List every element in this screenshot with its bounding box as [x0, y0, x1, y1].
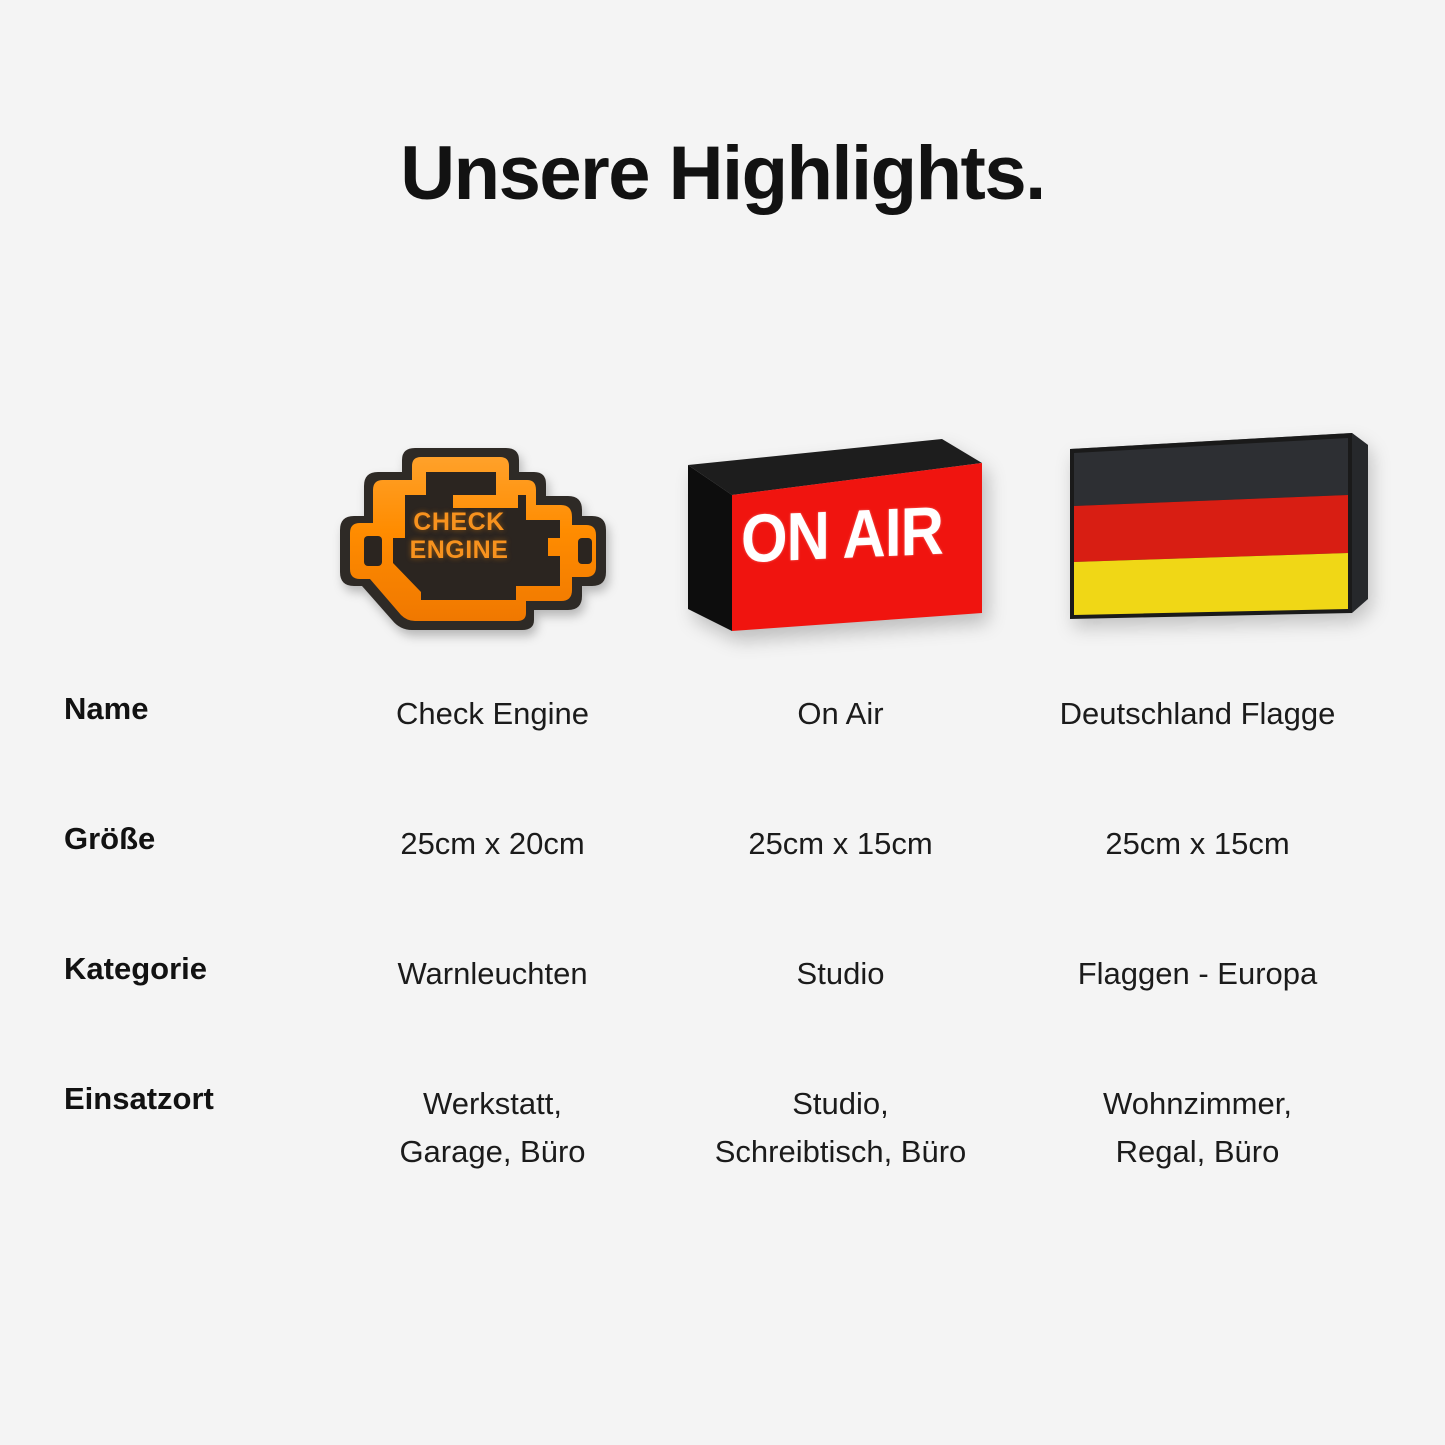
page-title: Unsere Highlights. — [0, 132, 1445, 216]
cell-einsatzort-deutschland-flagge: Wohnzimmer,Regal, Büro — [1025, 1080, 1370, 1176]
table-row: Einsatzort Werkstatt,Garage, Büro Studio… — [0, 1080, 1445, 1230]
row-label-name: Name — [64, 690, 364, 729]
row-label-groesse: Größe — [64, 820, 364, 859]
product-image-on-air[interactable]: ON AIR — [660, 405, 1020, 670]
germany-flag-lightbox — [1062, 423, 1377, 645]
spec-table: Name Check Engine On Air Deutschland Fla… — [0, 690, 1445, 1230]
on-air-lightbox: ON AIR — [680, 423, 990, 648]
cell-groesse-on-air: 25cm x 15cm — [678, 820, 1003, 868]
on-air-sign-text: ON AIR — [731, 496, 953, 574]
row-label-kategorie: Kategorie — [64, 950, 364, 989]
check-engine-sign-text: CHECK ENGINE — [384, 508, 534, 564]
cell-einsatzort-check-engine: Werkstatt,Garage, Büro — [330, 1080, 655, 1176]
cell-kategorie-check-engine: Warnleuchten — [330, 950, 655, 998]
cell-groesse-check-engine: 25cm x 20cm — [330, 820, 655, 868]
table-row: Name Check Engine On Air Deutschland Fla… — [0, 690, 1445, 820]
product-image-check-engine[interactable]: CHECK ENGINE — [290, 405, 680, 670]
row-label-einsatzort: Einsatzort — [64, 1080, 364, 1119]
product-image-row: CHECK ENGINE ON AIR — [0, 405, 1445, 670]
germany-flag-svg — [1062, 423, 1377, 645]
highlights-page: Unsere Highlights. — [0, 0, 1445, 1445]
check-engine-line1: CHECK — [413, 508, 504, 536]
table-row: Kategorie Warnleuchten Studio Flaggen - … — [0, 950, 1445, 1080]
cell-name-check-engine: Check Engine — [330, 690, 655, 738]
cell-kategorie-on-air: Studio — [678, 950, 1003, 998]
table-row: Größe 25cm x 20cm 25cm x 15cm 25cm x 15c… — [0, 820, 1445, 950]
cell-kategorie-deutschland-flagge: Flaggen - Europa — [1025, 950, 1370, 998]
cell-einsatzort-on-air: Studio,Schreibtisch, Büro — [678, 1080, 1003, 1176]
cell-groesse-deutschland-flagge: 25cm x 15cm — [1025, 820, 1370, 868]
cell-name-on-air: On Air — [678, 690, 1003, 738]
check-engine-line2: ENGINE — [410, 536, 509, 564]
cell-name-deutschland-flagge: Deutschland Flagge — [1025, 690, 1370, 738]
check-engine-icon: CHECK ENGINE — [320, 420, 640, 650]
product-image-deutschland-flagge[interactable] — [1020, 405, 1410, 670]
